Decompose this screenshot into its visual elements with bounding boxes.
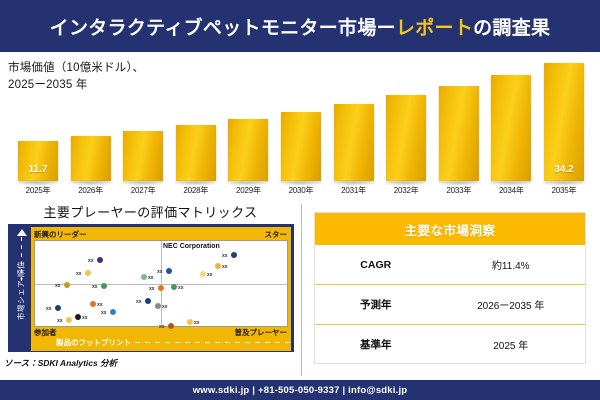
matrix-data-point	[90, 301, 96, 307]
market-value-chart-panel: 市場価値（10億米ドル）、 2025ー2035 年 11.734.2 2025年…	[0, 52, 600, 200]
matrix-scatter-plot: NEC Corporation xxxxxxxxxxxxxxxxxxxxxxxx…	[34, 240, 288, 327]
matrix-data-point	[145, 298, 151, 304]
matrix-data-point	[66, 317, 72, 323]
bar-column	[439, 52, 479, 181]
page-header: インタラクティブペットモニター市場ーレポートの調査果	[0, 0, 600, 52]
matrix-data-point	[231, 252, 237, 258]
bar-chart-plot: 11.734.2	[18, 52, 584, 181]
matrix-y-axis-label: 市場シェア・順位	[16, 259, 27, 323]
matrix-x-axis: 製品のフットプリント	[53, 335, 313, 349]
bar-2026年	[71, 136, 111, 181]
matrix-data-point-label: xx	[149, 286, 155, 292]
x-axis-tick-2027年: 2027年	[123, 185, 163, 196]
bar-chart-x-axis: 2025年2026年2027年2028年2029年2030年2031年2032年…	[18, 181, 584, 200]
matrix-data-point	[141, 274, 147, 280]
matrix-data-point-label: xx	[88, 258, 94, 264]
matrix-data-point	[55, 305, 61, 311]
insights-row: CAGR約11.4%	[315, 245, 585, 285]
player-matrix-panel: 主要プレーヤーの評価マトリックス 市場シェア・順位 新興のリーダー スター 参加…	[0, 200, 301, 380]
insights-row-value: 2025 年	[437, 337, 586, 352]
x-axis-dashed-line	[135, 342, 302, 343]
insights-row: 予測年2026ー2035 年	[315, 285, 585, 325]
matrix-data-point-label: xx	[46, 306, 52, 312]
bar-2033年	[439, 86, 479, 181]
footer-contact-text: www.sdki.jp | +81-505-050-9337 | info@sd…	[193, 385, 408, 396]
bar-2034年	[491, 75, 531, 181]
bar-2031年	[334, 104, 374, 181]
matrix-data-point-label: xx	[194, 320, 200, 326]
matrix-data-point-label: xx	[101, 310, 107, 316]
bar-value-label: 34.2	[544, 164, 584, 175]
bar-column	[123, 52, 163, 181]
panel-divider	[301, 204, 302, 376]
matrix-data-point	[171, 284, 177, 290]
bar-2035年: 34.2	[544, 63, 584, 181]
matrix-data-point-label: xx	[178, 285, 184, 291]
quadrant-label-emerging-leaders: 新興のリーダー	[34, 229, 87, 240]
bar-column: 11.7	[18, 52, 58, 181]
bar-column	[281, 52, 321, 181]
x-axis-tick-2031年: 2031年	[334, 185, 374, 196]
matrix-data-point	[64, 282, 70, 288]
matrix-data-point	[110, 309, 116, 315]
page-footer: www.sdki.jp | +81-505-050-9337 | info@sd…	[0, 380, 600, 400]
page-title: インタラクティブペットモニター市場ーレポートの調査果	[50, 13, 551, 40]
matrix-data-point-label: xx	[136, 299, 142, 305]
matrix-data-point-label: xx	[92, 284, 98, 290]
matrix-data-point	[200, 271, 206, 277]
matrix-data-point	[166, 268, 172, 274]
page-title-main: インタラクティブペットモニター市場ー	[50, 18, 396, 39]
matrix-data-point-label: xx	[55, 283, 61, 289]
matrix-quadrant-frame: 新興のリーダー スター 参加者 普及プレーヤー NEC Corporation …	[31, 227, 291, 351]
x-axis-tick-2030年: 2030年	[281, 185, 321, 196]
insights-table-header: 主要な市場洞察	[315, 213, 585, 245]
bar-column	[71, 52, 111, 181]
page-title-tail: の調査果	[473, 18, 550, 39]
x-axis-tick-2029年: 2029年	[228, 185, 268, 196]
matrix-data-point	[75, 314, 81, 320]
bar-column	[491, 52, 531, 181]
insights-row: 基準年2025 年	[315, 325, 585, 364]
matrix-data-point-label: xx	[76, 271, 82, 277]
bar-column	[176, 52, 216, 181]
x-axis-tick-2033年: 2033年	[439, 185, 479, 196]
x-axis-tick-2035年: 2035年	[544, 185, 584, 196]
x-axis-tick-2025年: 2025年	[18, 185, 58, 196]
source-note: ソース：SDKI Analytics 分析	[4, 357, 117, 369]
page-title-accent: レポート	[396, 18, 473, 39]
matrix-data-point-label: xx	[97, 302, 103, 308]
matrix-data-point-label: xx	[57, 318, 63, 324]
x-axis-tick-2028年: 2028年	[176, 185, 216, 196]
bar-2025年: 11.7	[18, 141, 58, 181]
matrix-chart: 市場シェア・順位 新興のリーダー スター 参加者 普及プレーヤー NEC Cor…	[8, 224, 294, 352]
x-axis-tick-2026年: 2026年	[71, 185, 111, 196]
matrix-data-point	[101, 283, 107, 289]
matrix-data-point-label: xx	[222, 264, 228, 270]
lower-content-area: 主要プレーヤーの評価マトリックス 市場シェア・順位 新興のリーダー スター 参加…	[0, 200, 600, 380]
insights-row-key: 予測年	[315, 297, 437, 312]
matrix-x-axis-label: 製品のフットプリント	[53, 337, 131, 348]
bar-2029年	[228, 119, 268, 181]
matrix-data-point-label: xx	[157, 269, 163, 275]
insights-table-body: CAGR約11.4%予測年2026ー2035 年基準年2025 年	[315, 245, 585, 364]
matrix-y-axis: 市場シェア・順位	[11, 227, 31, 351]
insights-row-value: 2026ー2035 年	[437, 297, 586, 312]
insights-row-key: CAGR	[315, 259, 437, 271]
bar-2028年	[176, 125, 216, 181]
bar-column	[386, 52, 426, 181]
matrix-data-point-label: xx	[222, 253, 228, 259]
y-axis-arrow-icon	[17, 229, 27, 236]
quadrant-label-stars: スター	[265, 229, 288, 240]
matrix-data-point	[97, 257, 103, 263]
matrix-data-point-label: xx	[82, 315, 88, 321]
matrix-data-point	[155, 303, 161, 309]
matrix-data-point	[187, 319, 193, 325]
matrix-data-point	[158, 285, 164, 291]
matrix-title: 主要プレーヤーの評価マトリックス	[0, 202, 301, 221]
bar-column: 34.2	[544, 52, 584, 181]
x-axis-tick-2034年: 2034年	[491, 185, 531, 196]
matrix-data-point-label: xx	[159, 324, 165, 330]
matrix-data-point-label: xx	[162, 304, 168, 310]
bar-2027年	[123, 131, 163, 181]
bar-column	[334, 52, 374, 181]
bar-2030年	[281, 112, 321, 181]
matrix-data-point	[215, 263, 221, 269]
matrix-data-point-label: xx	[148, 275, 154, 281]
bar-2032年	[386, 95, 426, 181]
key-market-insights-table: 主要な市場洞察 CAGR約11.4%予測年2026ー2035 年基準年2025 …	[314, 212, 586, 364]
matrix-data-point-label: xx	[207, 272, 213, 278]
matrix-highlight-company-label: NEC Corporation	[163, 243, 220, 250]
matrix-data-point	[85, 270, 91, 276]
x-axis-arrow-icon	[304, 338, 311, 346]
x-axis-tick-2032年: 2032年	[386, 185, 426, 196]
insights-row-key: 基準年	[315, 337, 437, 352]
bar-value-label: 11.7	[18, 164, 58, 175]
matrix-data-point	[168, 323, 174, 329]
insights-row-value: 約11.4%	[437, 257, 586, 272]
bar-column	[228, 52, 268, 181]
